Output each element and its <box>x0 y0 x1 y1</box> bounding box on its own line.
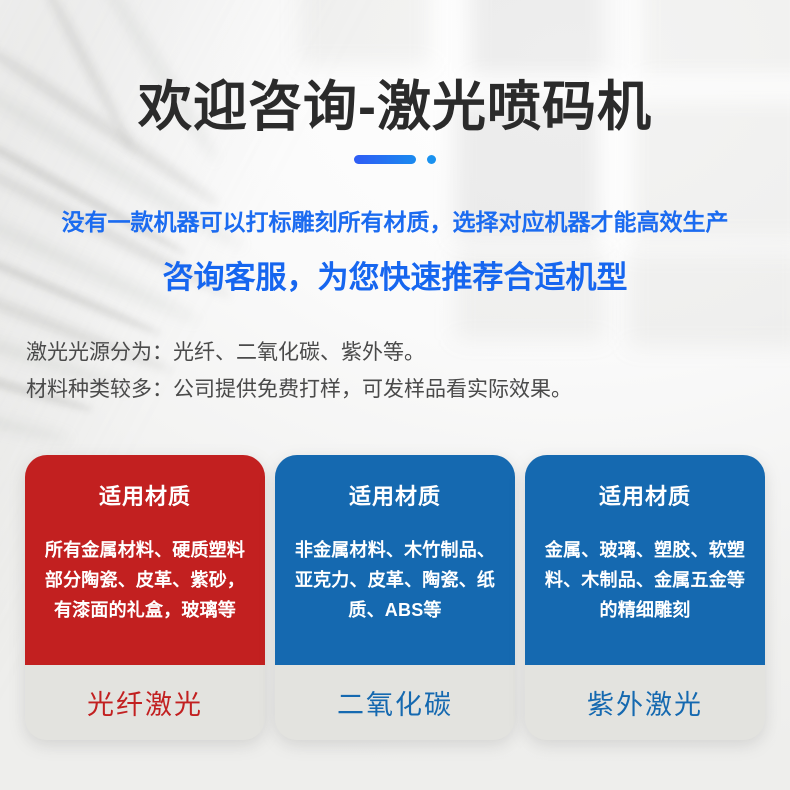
card-title: 适用材质 <box>287 455 503 511</box>
card-footer-label: 光纤激光 <box>25 665 265 740</box>
subtitle-secondary: 咨询客服，为您快速推荐合适机型 <box>0 252 790 297</box>
card-body-text: 金属、玻璃、塑胶、软塑料、木制品、金属五金等的精细雕刻 <box>537 535 753 625</box>
card-footer-label: 紫外激光 <box>525 665 765 740</box>
card-header: 适用材质 金属、玻璃、塑胶、软塑料、木制品、金属五金等的精细雕刻 <box>525 455 765 665</box>
note-line-2: 材料种类较多：公司提供免费打样，可发样品看实际效果。 <box>26 373 572 403</box>
subtitle-primary: 没有一款机器可以打标雕刻所有材质，选择对应机器才能高效生产 <box>0 203 790 237</box>
material-card-group: 适用材质 所有金属材料、硬质塑料部分陶瓷、皮革、紫砂，有漆面的礼盒，玻璃等 光纤… <box>0 455 790 745</box>
poster-content: 欢迎咨询-激光喷码机 没有一款机器可以打标雕刻所有材质，选择对应机器才能高效生产… <box>0 0 790 790</box>
card-fiber-laser[interactable]: 适用材质 所有金属材料、硬质塑料部分陶瓷、皮革、紫砂，有漆面的礼盒，玻璃等 光纤… <box>25 455 265 740</box>
promo-poster: 欢迎咨询-激光喷码机 没有一款机器可以打标雕刻所有材质，选择对应机器才能高效生产… <box>0 0 790 790</box>
divider-bar <box>354 155 416 164</box>
card-title: 适用材质 <box>537 455 753 511</box>
card-body-text: 所有金属材料、硬质塑料部分陶瓷、皮革、紫砂，有漆面的礼盒，玻璃等 <box>37 535 253 625</box>
page-title: 欢迎咨询-激光喷码机 <box>0 62 790 141</box>
title-divider <box>0 152 790 166</box>
card-footer-label: 二氧化碳 <box>275 665 515 740</box>
divider-dot <box>427 155 436 164</box>
card-uv-laser[interactable]: 适用材质 金属、玻璃、塑胶、软塑料、木制品、金属五金等的精细雕刻 紫外激光 <box>525 455 765 740</box>
card-header: 适用材质 所有金属材料、硬质塑料部分陶瓷、皮革、紫砂，有漆面的礼盒，玻璃等 <box>25 455 265 665</box>
card-co2-laser[interactable]: 适用材质 非金属材料、木竹制品、亚克力、皮革、陶瓷、纸质、ABS等 二氧化碳 <box>275 455 515 740</box>
card-header: 适用材质 非金属材料、木竹制品、亚克力、皮革、陶瓷、纸质、ABS等 <box>275 455 515 665</box>
note-line-1: 激光光源分为：光纤、二氧化碳、紫外等。 <box>26 336 425 366</box>
card-body-text: 非金属材料、木竹制品、亚克力、皮革、陶瓷、纸质、ABS等 <box>287 535 503 625</box>
card-title: 适用材质 <box>37 455 253 511</box>
